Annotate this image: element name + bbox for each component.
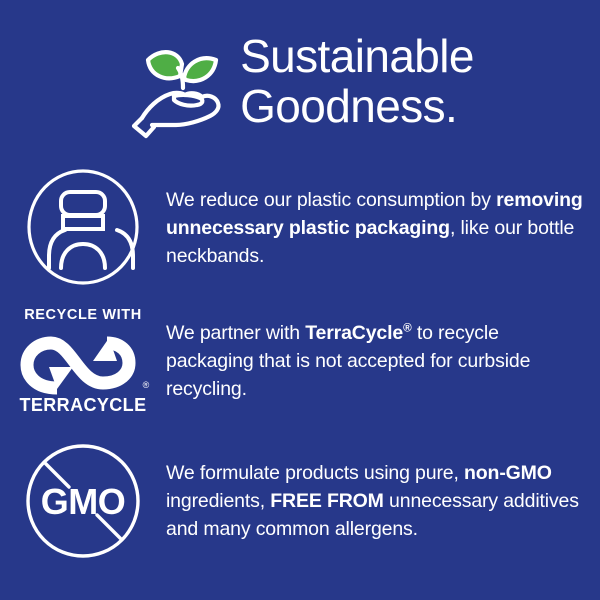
terracycle-top-label: RECYCLE WITH <box>24 307 142 323</box>
feature-text-plastic: We reduce our plastic consumption by rem… <box>166 168 600 270</box>
sustainable-goodness-infographic: Sustainable Goodness. We reduce <box>0 0 600 600</box>
feature-row-gmo: GMO We formulate products using pure, no… <box>0 443 600 559</box>
hand-holding-sprout-icon <box>126 32 230 136</box>
header: Sustainable Goodness. <box>0 22 600 142</box>
feature-text-gmo: We formulate products using pure, non-GM… <box>166 443 600 543</box>
feature-text-terracycle: We partner with TerraCycle® to recycle p… <box>166 305 600 403</box>
feature-icon-slot <box>0 168 166 286</box>
feature-icon-slot: GMO <box>0 443 166 559</box>
no-gmo-icon: GMO <box>25 443 141 559</box>
gmo-label: GMO <box>41 481 126 522</box>
terracycle-registered-mark: ® <box>143 380 150 390</box>
terracycle-logo-icon: RECYCLE WITH ® TERRACYCLE <box>13 305 153 415</box>
page-title: Sustainable Goodness. <box>240 32 474 131</box>
terracycle-bottom-label: TERRACYCLE <box>19 395 146 415</box>
bottle-neckband-icon <box>25 168 141 286</box>
feature-icon-slot: RECYCLE WITH ® TERRACYCLE <box>0 305 166 415</box>
feature-row-plastic: We reduce our plastic consumption by rem… <box>0 168 600 286</box>
feature-row-terracycle: RECYCLE WITH ® TERRACYCLE We partner wit… <box>0 305 600 415</box>
